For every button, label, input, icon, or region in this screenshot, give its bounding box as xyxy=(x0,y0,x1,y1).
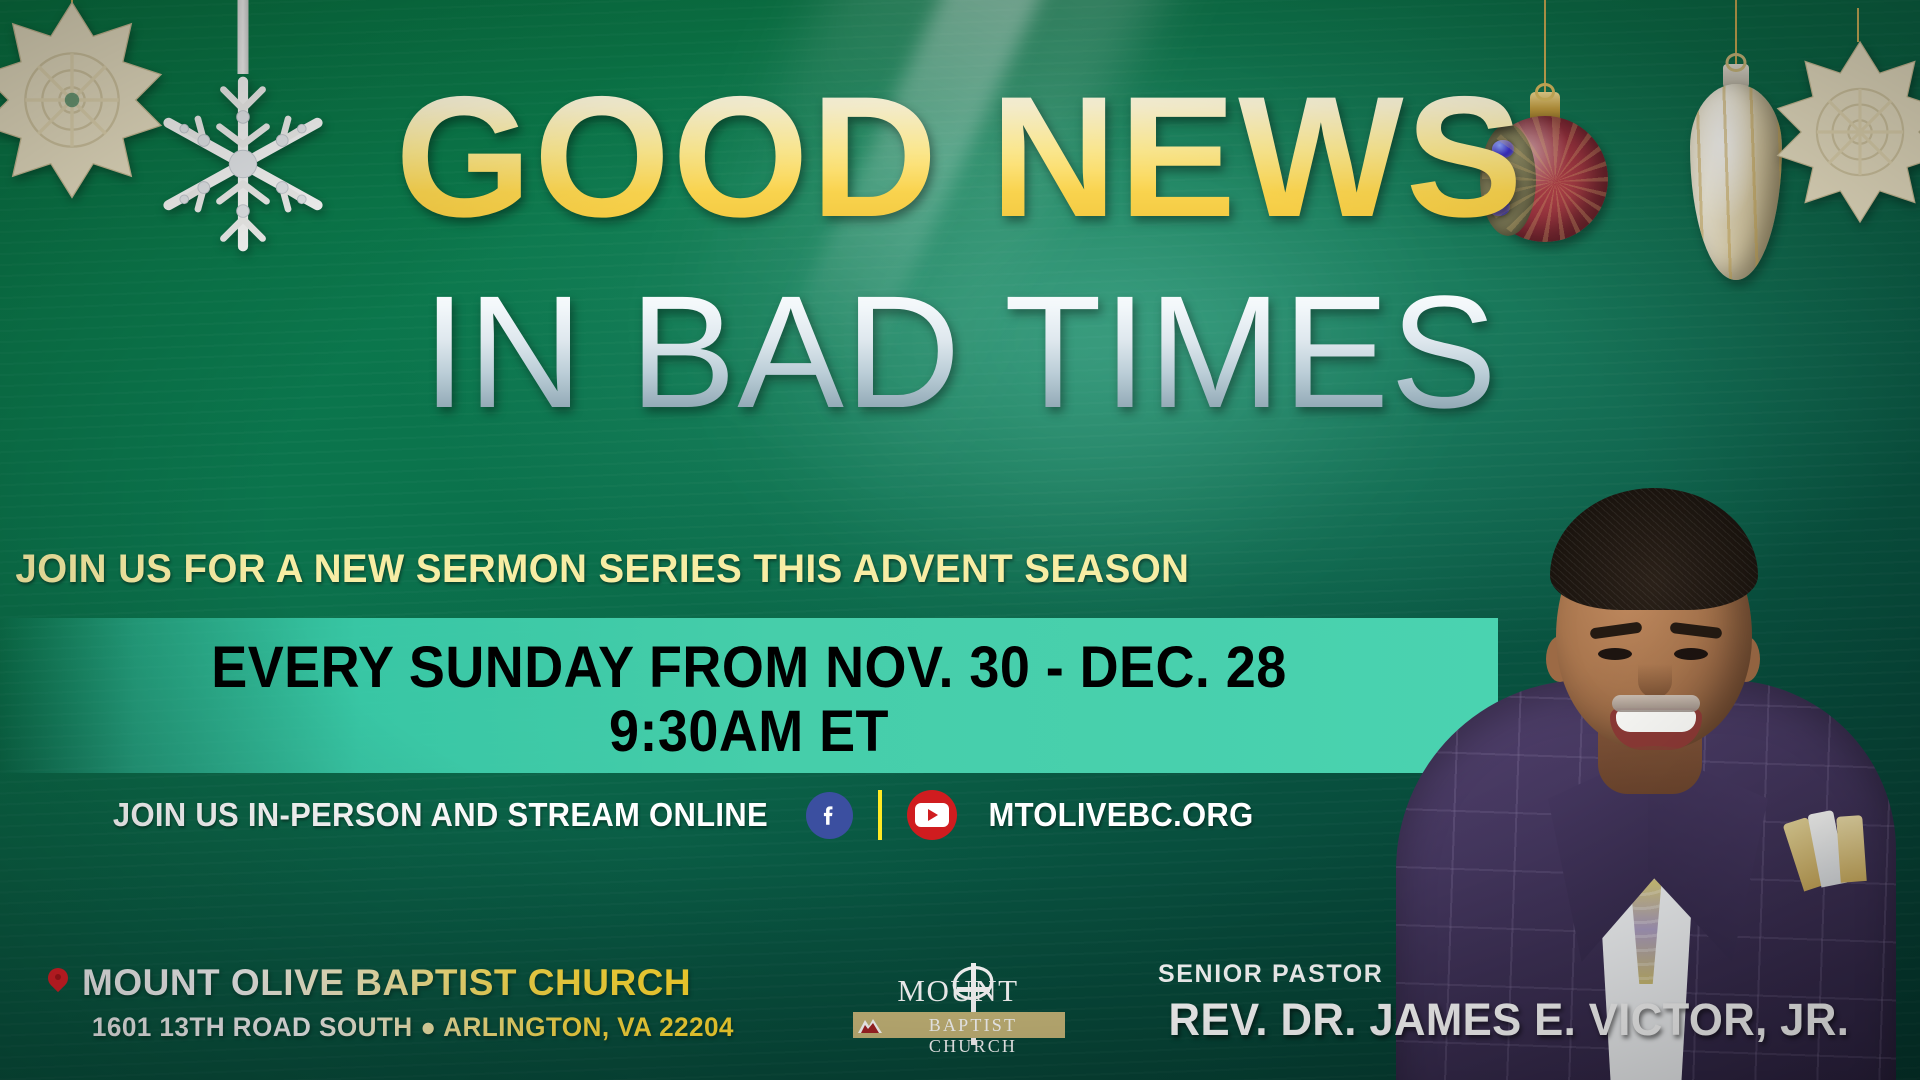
hair xyxy=(1550,488,1758,610)
mustache xyxy=(1612,695,1700,712)
street-address: 1601 13TH ROAD SOUTH ● ARLINGTON, VA 222… xyxy=(92,1012,734,1043)
pastor-name: REV. DR. JAMES E. VICTOR, JR. xyxy=(1169,994,1850,1046)
location-pin-icon xyxy=(48,968,68,998)
page-title: GOOD NEWS xyxy=(0,78,1920,236)
mountain-icon xyxy=(857,1017,883,1034)
divider xyxy=(878,790,882,840)
nose xyxy=(1638,664,1672,698)
date-range: EVERY SUNDAY FROM NOV. 30 - DEC. 28 xyxy=(52,634,1445,701)
stream-row: JOIN US IN-PERSON AND STREAM ONLINE MTOL… xyxy=(92,790,1262,840)
facebook-icon[interactable] xyxy=(806,792,853,839)
promo-flyer: GOOD NEWS IN BAD TIMES JOIN US FOR A NEW… xyxy=(0,0,1920,1080)
address-block: MOUNT OLIVE BAPTIST CHURCH 1601 13TH ROA… xyxy=(48,962,744,1043)
pocket-square xyxy=(1787,803,1889,890)
pastor-role: SENIOR PASTOR xyxy=(1158,960,1860,989)
date-banner: EVERY SUNDAY FROM NOV. 30 - DEC. 28 9:30… xyxy=(0,618,1498,773)
tagline: JOIN US FOR A NEW SERMON SERIES THIS ADV… xyxy=(15,547,754,592)
logo-bar: BAPTIST CHURCH xyxy=(853,1012,1065,1038)
pastor-name-block: SENIOR PASTOR REV. DR. JAMES E. VICTOR, … xyxy=(1158,960,1860,1046)
website-url[interactable]: MTOLIVEBC.ORG xyxy=(988,796,1253,834)
service-time: 9:30AM ET xyxy=(52,698,1445,765)
eye-left xyxy=(1598,648,1632,660)
logo-sub: BAPTIST CHURCH xyxy=(887,1015,1059,1057)
stream-label: JOIN US IN-PERSON AND STREAM ONLINE xyxy=(113,796,768,834)
mouth xyxy=(1610,708,1702,750)
eye-right xyxy=(1674,648,1708,660)
chin xyxy=(1604,746,1704,780)
youtube-icon[interactable] xyxy=(907,790,957,840)
church-name: MOUNT OLIVE BAPTIST CHURCH xyxy=(82,962,691,1004)
church-logo: MOUNT OLIVE BAPTIST CHURCH xyxy=(845,965,1070,1055)
